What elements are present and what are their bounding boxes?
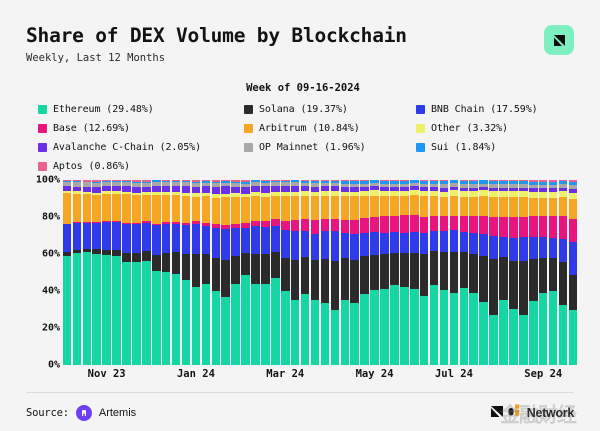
bar-column[interactable] (508, 180, 518, 365)
x-axis-tick: Nov 23 (88, 368, 126, 380)
bar-segment (469, 216, 478, 233)
bar-segment (489, 315, 498, 365)
y-axis-tick: 80% (42, 212, 60, 223)
bar-segment (489, 259, 498, 315)
bar-segment (569, 242, 578, 275)
bar-segment (112, 222, 121, 251)
bar-segment (469, 293, 478, 365)
x-axis-tick: Jan 24 (177, 368, 215, 380)
bar-segment (241, 197, 250, 223)
bar-stack (132, 180, 141, 365)
bar-segment (410, 253, 419, 289)
legend-item-label: Sui (1.84%) (431, 142, 496, 153)
bar-segment (122, 253, 131, 261)
bar-stack (519, 180, 528, 365)
bar-column[interactable] (92, 180, 102, 365)
bar-segment (63, 193, 72, 224)
bar-segment (212, 187, 221, 194)
bar-segment (440, 290, 449, 365)
legend-item-other[interactable]: Other (3.32%) (416, 121, 586, 136)
bar-column[interactable] (370, 180, 380, 365)
bar-segment (450, 196, 459, 216)
bar-segment (569, 310, 578, 365)
chart-subtitle: Weekly, Last 12 Months (26, 52, 407, 64)
bar-column[interactable] (568, 180, 578, 365)
bar-stack (350, 180, 359, 365)
bar-segment (549, 216, 558, 238)
bar-segment (350, 220, 359, 234)
bar-segment (410, 232, 419, 253)
bar-stack (102, 180, 111, 365)
bar-stack (152, 180, 161, 365)
bar-stack (341, 180, 350, 365)
bar-segment (102, 194, 111, 222)
bar-segment (271, 196, 280, 219)
bar-column[interactable] (528, 180, 538, 365)
bar-column[interactable] (201, 180, 211, 365)
y-axis: 0%20%40%60%80%100% (26, 180, 60, 365)
bar-column[interactable] (122, 180, 132, 365)
bar-segment (390, 253, 399, 286)
bar-segment (529, 259, 538, 301)
source-label: Source: (26, 407, 69, 419)
site-logo: Network 金融财经 (490, 404, 574, 423)
legend-item-base[interactable]: Base (12.69%) (38, 121, 244, 136)
bar-segment (539, 293, 548, 365)
bar-column[interactable] (469, 180, 479, 365)
bar-stack (271, 180, 280, 365)
legend-swatch (244, 143, 253, 152)
bar-segment (420, 196, 429, 217)
bar-segment (519, 197, 528, 217)
bar-segment (172, 274, 181, 365)
bar-segment (469, 254, 478, 294)
bar-segment (440, 231, 449, 252)
bar-column[interactable] (191, 180, 201, 365)
bar-stack (182, 180, 191, 365)
bar-segment (341, 196, 350, 220)
bar-column[interactable] (290, 180, 300, 365)
bar-segment (231, 284, 240, 365)
bar-column[interactable] (181, 180, 191, 365)
legend-item-label: Aptos (0.86%) (53, 161, 130, 172)
bar-segment (410, 215, 419, 231)
bar-stack (63, 180, 72, 365)
logo-text: Network (527, 406, 574, 420)
bar-stack (202, 180, 211, 365)
bar-column[interactable] (102, 180, 112, 365)
bar-segment (420, 254, 429, 296)
bar-segment (569, 275, 578, 311)
bar-segment (251, 226, 260, 254)
bar-segment (261, 227, 270, 254)
bar-segment (83, 252, 92, 365)
bar-segment (450, 293, 459, 365)
bar-segment (261, 254, 270, 284)
bar-segment (122, 262, 131, 365)
bar-stack (301, 180, 310, 365)
legend-item-bnb-chain[interactable]: BNB Chain (17.59%) (416, 102, 586, 117)
bar-segment (549, 198, 558, 217)
bar-segment (420, 296, 429, 365)
logo-mark-icon (508, 404, 524, 423)
bar-column[interactable] (251, 180, 261, 365)
bar-column[interactable] (389, 180, 399, 365)
bar-stack (509, 180, 518, 365)
artemis-triangle-icon (544, 25, 574, 55)
bar-stack (440, 180, 449, 365)
bar-segment (271, 252, 280, 278)
bar-segment (341, 300, 350, 365)
bar-segment (172, 252, 181, 274)
bar-stack (212, 180, 221, 365)
bar-segment (370, 232, 379, 255)
bar-segment (281, 230, 290, 258)
bar-stack (569, 180, 578, 365)
y-axis-tick: 100% (36, 175, 60, 186)
bar-column[interactable] (429, 180, 439, 365)
bar-column[interactable] (479, 180, 489, 365)
bar-segment (499, 237, 508, 258)
bar-column[interactable] (270, 180, 280, 365)
x-axis-tick: May 24 (356, 368, 394, 380)
bar-column[interactable] (221, 180, 231, 365)
bar-segment (162, 195, 171, 222)
bar-segment (331, 310, 340, 365)
bar-segment (212, 291, 221, 365)
bar-segment (241, 228, 250, 254)
bar-segment (519, 217, 528, 237)
bar-segment (301, 294, 310, 365)
bar-segment (400, 215, 409, 232)
bar-segment (271, 278, 280, 365)
bar-segment (281, 291, 290, 365)
bar-segment (440, 197, 449, 216)
bar-column[interactable] (161, 180, 171, 365)
bar-segment (142, 261, 151, 365)
bar-column[interactable] (231, 180, 241, 365)
bar-segment (341, 233, 350, 258)
bar-column[interactable] (320, 180, 330, 365)
bar-stack (430, 180, 439, 365)
bar-column[interactable] (171, 180, 181, 365)
bar-segment (132, 262, 141, 365)
bar-segment (450, 252, 459, 293)
bar-column[interactable] (260, 180, 270, 365)
chart-header: Share of DEX Volume by Blockchain Weekly… (26, 24, 574, 64)
legend-item-op-mainnet[interactable]: OP Mainnet (1.96%) (244, 140, 416, 155)
bar-segment (360, 218, 369, 233)
bar-segment (370, 196, 379, 217)
bar-segment (152, 225, 161, 255)
legend-item-solana[interactable]: Solana (19.37%) (244, 102, 416, 117)
bar-segment (92, 223, 101, 250)
legend-item-sui[interactable]: Sui (1.84%) (416, 140, 586, 155)
bar-segment (291, 196, 300, 220)
bar-segment (400, 233, 409, 253)
bar-segment (102, 222, 111, 250)
legend-swatch (416, 105, 425, 114)
bar-segment (291, 300, 300, 365)
bar-segment (341, 220, 350, 233)
bar-segment (311, 300, 320, 365)
chart-card: Share of DEX Volume by Blockchain Weekly… (0, 0, 600, 431)
legend-item-arbitrum[interactable]: Arbitrum (10.84%) (244, 121, 416, 136)
bar-segment (350, 234, 359, 260)
bar-segment (112, 256, 121, 365)
bar-stack (251, 180, 260, 365)
legend-swatch (416, 124, 425, 133)
bar-segment (231, 228, 240, 256)
bar-column[interactable] (151, 180, 161, 365)
bar-segment (192, 197, 201, 222)
legend-item-label: Other (3.32%) (431, 123, 508, 134)
bar-stack (172, 180, 181, 365)
bar-stack (311, 180, 320, 365)
bar-stack (489, 180, 498, 365)
bar-segment (479, 234, 488, 256)
bar-segment (569, 199, 578, 219)
bar-segment (251, 254, 260, 284)
bar-segment (251, 196, 260, 221)
bar-segment (291, 260, 300, 301)
bar-segment (112, 194, 121, 221)
bar-segment (162, 253, 171, 272)
bar-segment (519, 237, 528, 261)
bar-column[interactable] (518, 180, 528, 365)
bar-segment (202, 226, 211, 254)
bar-segment (132, 195, 141, 222)
chart-footer: Source: Artemis (26, 400, 574, 426)
bar-segment (251, 284, 260, 365)
footer-divider (26, 392, 574, 393)
bar-column[interactable] (141, 180, 151, 365)
bar-segment (509, 261, 518, 309)
bar-segment (221, 186, 230, 193)
bar-segment (63, 224, 72, 252)
bar-segment (291, 220, 300, 231)
bar-segment (559, 262, 568, 305)
legend-swatch (416, 143, 425, 152)
stacked-bars (62, 180, 578, 365)
bar-segment (321, 196, 330, 219)
bar-segment (311, 260, 320, 300)
bar-segment (83, 223, 92, 249)
legend: Ethereum (29.48%)Solana (19.37%)BNB Chai… (26, 102, 574, 174)
bar-column[interactable] (360, 180, 370, 365)
bar-segment (152, 255, 161, 271)
bar-segment (360, 196, 369, 218)
bar-segment (281, 196, 290, 221)
bar-segment (321, 303, 330, 365)
bar-column[interactable] (241, 180, 251, 365)
bar-segment (152, 195, 161, 224)
bar-segment (430, 285, 439, 365)
bar-segment (450, 216, 459, 230)
bar-stack (192, 180, 201, 365)
bar-segment (192, 254, 201, 287)
bar-segment (182, 254, 191, 280)
bar-segment (301, 231, 310, 257)
bar-segment (509, 217, 518, 238)
x-axis: Nov 23Jan 24Mar 24May 24Jul 24Sep 24 (62, 368, 578, 384)
bar-segment (142, 251, 151, 261)
bar-segment (460, 216, 469, 232)
bar-column[interactable] (558, 180, 568, 365)
bar-column[interactable] (211, 180, 221, 365)
bar-segment (539, 198, 548, 217)
bar-stack (142, 180, 151, 365)
bar-segment (360, 233, 369, 257)
bar-column[interactable] (459, 180, 469, 365)
bar-column[interactable] (489, 180, 499, 365)
bar-segment (370, 290, 379, 365)
legend-item-label: Avalanche C-Chain (2.05%) (53, 142, 201, 153)
bar-segment (559, 197, 568, 216)
bar-segment (142, 195, 151, 222)
bar-stack (73, 180, 82, 365)
bar-segment (311, 196, 320, 220)
bar-column[interactable] (112, 180, 122, 365)
bar-stack (221, 180, 230, 365)
y-axis-tick: 20% (42, 323, 60, 334)
bar-segment (241, 253, 250, 275)
bar-column[interactable] (409, 180, 419, 365)
bar-segment (529, 237, 538, 259)
bar-segment (350, 303, 359, 365)
bar-segment (460, 197, 469, 216)
bar-segment (539, 237, 548, 257)
bar-column[interactable] (380, 180, 390, 365)
bar-segment (271, 226, 280, 252)
bar-segment (549, 238, 558, 257)
bar-segment (341, 258, 350, 300)
bar-segment (430, 196, 439, 216)
bar-segment (301, 219, 310, 232)
bar-segment (559, 216, 568, 239)
bar-column[interactable] (419, 180, 429, 365)
bar-column[interactable] (310, 180, 320, 365)
legend-item-aptos[interactable]: Aptos (0.86%) (38, 159, 244, 174)
bar-stack (410, 180, 419, 365)
bar-column[interactable] (548, 180, 558, 365)
bar-segment (331, 219, 340, 231)
bar-column[interactable] (449, 180, 459, 365)
bar-segment (350, 196, 359, 220)
bar-segment (311, 234, 320, 260)
bar-segment (489, 197, 498, 217)
bar-segment (63, 256, 72, 365)
legend-item-label: BNB Chain (17.59%) (431, 104, 538, 115)
bar-segment (410, 289, 419, 365)
bar-segment (291, 231, 300, 260)
bar-segment (440, 216, 449, 231)
bar-segment (380, 289, 389, 365)
bar-segment (221, 229, 230, 260)
bar-segment (281, 221, 290, 230)
bar-column[interactable] (399, 180, 409, 365)
bar-column[interactable] (538, 180, 548, 365)
bar-segment (261, 284, 270, 365)
artemis-circle-icon (76, 405, 92, 421)
bar-stack (559, 180, 568, 365)
bar-segment (430, 231, 439, 251)
bar-segment (420, 217, 429, 232)
x-axis-tick: Mar 24 (266, 368, 304, 380)
bar-column[interactable] (499, 180, 509, 365)
bar-segment (460, 252, 469, 288)
bar-segment (221, 297, 230, 365)
bar-segment (231, 197, 240, 224)
bar-segment (102, 255, 111, 365)
bar-segment (479, 216, 488, 234)
bar-segment (469, 197, 478, 216)
legend-item-avalanche-c-chain[interactable]: Avalanche C-Chain (2.05%) (38, 140, 244, 155)
bar-column[interactable] (280, 180, 290, 365)
bar-column[interactable] (82, 180, 92, 365)
bar-column[interactable] (62, 180, 72, 365)
bar-segment (410, 195, 419, 215)
bar-stack (380, 180, 389, 365)
bar-segment (380, 254, 389, 288)
bar-segment (350, 260, 359, 304)
bar-column[interactable] (300, 180, 310, 365)
bar-segment (390, 216, 399, 231)
bar-stack (112, 180, 121, 365)
bar-column[interactable] (72, 180, 82, 365)
bar-stack (390, 180, 399, 365)
bar-column[interactable] (340, 180, 350, 365)
bar-segment (529, 301, 538, 365)
bar-segment (559, 305, 568, 365)
bar-segment (380, 233, 389, 255)
bar-segment (202, 254, 211, 284)
bar-segment (73, 223, 82, 250)
bar-segment (192, 224, 201, 254)
legend-heading: Week of 09-16-2024 (32, 82, 574, 94)
bar-segment (390, 196, 399, 216)
bar-stack (450, 180, 459, 365)
bar-segment (380, 196, 389, 216)
legend-item-ethereum[interactable]: Ethereum (29.48%) (38, 102, 244, 117)
legend-swatch (38, 105, 47, 114)
bar-stack (162, 180, 171, 365)
bar-column[interactable] (330, 180, 340, 365)
bar-stack (83, 180, 92, 365)
bar-segment (221, 260, 230, 297)
bar-stack (92, 180, 101, 365)
bar-segment (509, 238, 518, 261)
bar-segment (73, 194, 82, 223)
bar-column[interactable] (131, 180, 141, 365)
bar-segment (192, 287, 201, 365)
bar-segment (132, 253, 141, 262)
page-title: Share of DEX Volume by Blockchain (26, 24, 407, 47)
bar-segment (400, 287, 409, 365)
bar-column[interactable] (350, 180, 360, 365)
bar-column[interactable] (439, 180, 449, 365)
bar-segment (122, 224, 131, 253)
bar-segment (182, 225, 191, 254)
bar-segment (321, 259, 330, 303)
legend-item-label: Ethereum (29.48%) (53, 104, 154, 115)
x-axis-tick: Jul 24 (435, 368, 473, 380)
bar-segment (460, 288, 469, 365)
bar-segment (301, 196, 310, 219)
bar-segment (162, 224, 171, 253)
bar-segment (162, 272, 171, 365)
bar-segment (92, 254, 101, 365)
